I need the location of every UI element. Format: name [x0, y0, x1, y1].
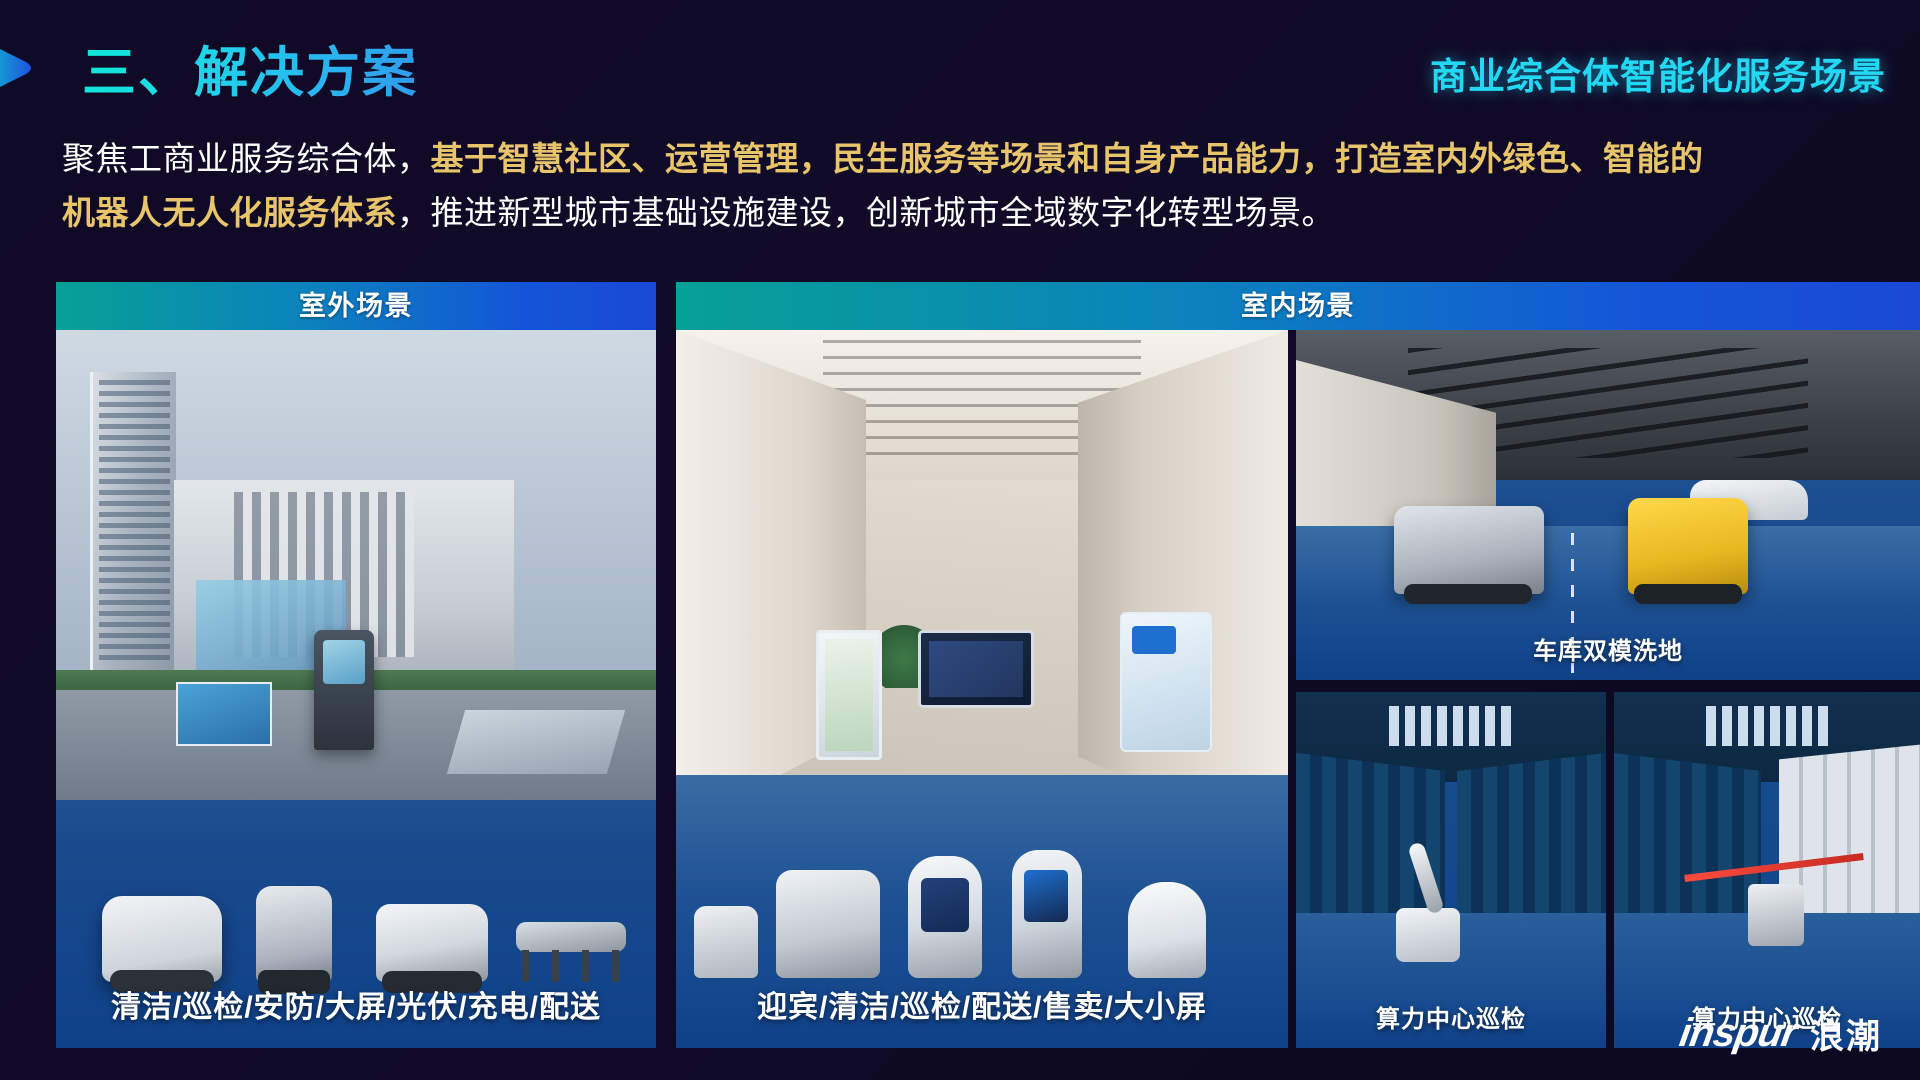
- panel-indoor[interactable]: 室内场景: [676, 282, 1920, 1048]
- lobby-small-cleaning-robot: [694, 906, 758, 978]
- outdoor-solar-canopy: [447, 710, 625, 774]
- paragraph-line1-plain: 聚焦工商业服务综合体，: [62, 140, 431, 177]
- panel-outdoor-image: 清洁/巡检/安防/大屏/光伏/充电/配送: [56, 330, 656, 1048]
- intro-paragraph: 聚焦工商业服务综合体，基于智慧社区、运营管理，民生服务等场景和自身产品能力，打造…: [62, 132, 1862, 240]
- lobby-poster-kiosk: [816, 630, 882, 760]
- datacenter-rail-inspection-robot: [1684, 842, 1864, 952]
- paragraph-line2-plain: ，推进新型城市基础设施建设，创新城市全域数字化转型场景。: [397, 194, 1335, 231]
- garage-grey-scrubber-robot: [1394, 506, 1544, 594]
- outdoor-delivery-robot: [376, 904, 488, 982]
- panel-outdoor[interactable]: 室外场景 清洁/巡检/安防/大屏/光伏/充电/配送: [56, 282, 656, 1048]
- outdoor-led-billboard: [176, 682, 272, 746]
- paragraph-line1-highlight: 基于智慧社区、运营管理，民生服务等场景和自身产品能力，打造室内外绿色、智能的: [431, 140, 1704, 177]
- logo-en-text: inspur: [1676, 1011, 1799, 1056]
- outdoor-robot-row: [56, 832, 656, 982]
- panel-indoor-header: 室内场景: [676, 282, 1920, 330]
- panel-outdoor-caption: 清洁/巡检/安防/大屏/光伏/充电/配送: [56, 982, 656, 1026]
- slide-root: 三、解决方案 商业综合体智能化服务场景 聚焦工商业服务综合体，基于智慧社区、运营…: [0, 0, 1920, 1080]
- page-subtitle: 商业综合体智能化服务场景: [1430, 46, 1886, 100]
- lobby-disinfection-robot: [1128, 882, 1206, 978]
- indoor-datacenter-left-image: 算力中心巡检: [1296, 692, 1606, 1048]
- slide-header: 三、解决方案 商业综合体智能化服务场景: [0, 0, 1920, 118]
- outdoor-patrol-robot: [256, 886, 332, 982]
- outdoor-tower-building: [90, 372, 176, 672]
- paragraph-line-1: 聚焦工商业服务综合体，基于智慧社区、运营管理，民生服务等场景和自身产品能力，打造…: [62, 132, 1862, 186]
- indoor-datacenter-right-image: 算力中心巡检: [1614, 692, 1920, 1048]
- outdoor-ev-charger: [314, 630, 374, 750]
- indoor-garage-caption: 车库双模洗地: [1296, 631, 1920, 666]
- outdoor-cleaning-robot: [102, 896, 222, 982]
- outdoor-robot-dog: [516, 912, 626, 982]
- indoor-lobby-caption: 迎宾/清洁/巡检/配送/售卖/大小屏: [676, 982, 1288, 1026]
- paragraph-line2-highlight: 机器人无人化服务体系: [62, 194, 397, 231]
- chevron-right-icon: [0, 26, 64, 110]
- garage-yellow-ride-on-scrubber: [1628, 498, 1748, 594]
- lobby-interactive-screen: [918, 630, 1034, 708]
- lobby-scrubber-robot: [776, 870, 880, 978]
- logo-cn-text: 浪潮: [1810, 1009, 1882, 1058]
- lobby-delivery-robot: [1012, 850, 1082, 978]
- panel-outdoor-header: 室外场景: [56, 282, 656, 330]
- lobby-vending-machine: [1120, 612, 1212, 752]
- datacenter-inspection-arm-robot: [1392, 842, 1464, 962]
- panel-indoor-grid: 迎宾/清洁/巡检/配送/售卖/大小屏 车库双模洗地: [676, 330, 1920, 1048]
- lobby-greeter-robot: [908, 856, 982, 978]
- page-title: 三、解决方案: [82, 28, 418, 107]
- indoor-garage-image: 车库双模洗地: [1296, 330, 1920, 680]
- paragraph-line-2: 机器人无人化服务体系，推进新型城市基础设施建设，创新城市全域数字化转型场景。: [62, 186, 1862, 240]
- inspur-logo: inspur 浪潮: [1680, 1009, 1882, 1058]
- indoor-datacenter-left-caption: 算力中心巡检: [1296, 999, 1606, 1034]
- indoor-lobby-image: 迎宾/清洁/巡检/配送/售卖/大小屏: [676, 330, 1288, 1048]
- lobby-robot-row: [676, 838, 1288, 978]
